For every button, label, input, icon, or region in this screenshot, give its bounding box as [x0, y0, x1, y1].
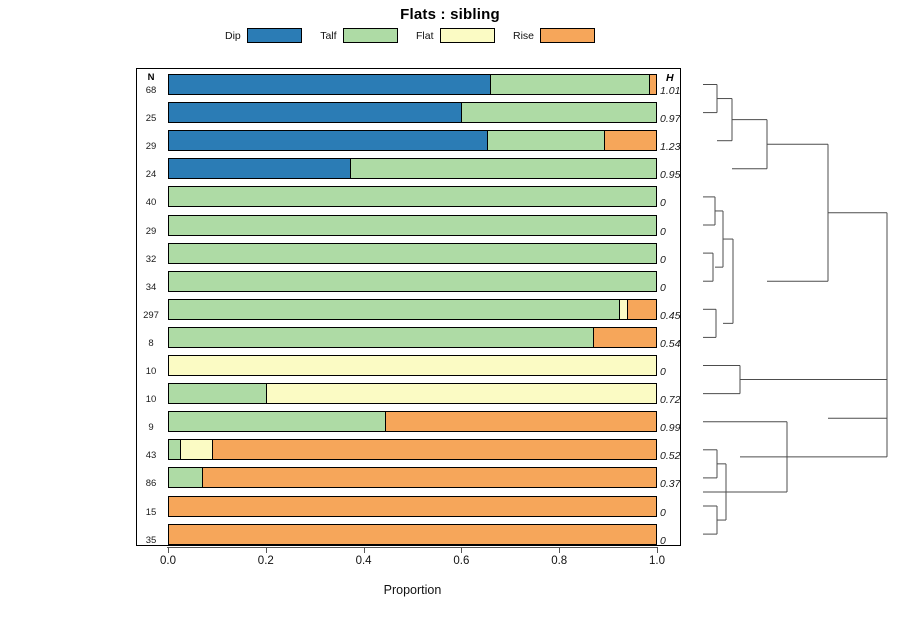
n-value: 86 — [137, 478, 165, 489]
bar-segment-rise — [649, 75, 656, 94]
legend-swatch-flat — [440, 28, 495, 43]
h-value: 0.52 — [660, 450, 690, 462]
stacked-bar — [168, 327, 657, 348]
bar-segment-talf — [169, 328, 593, 347]
h-value: 0 — [660, 254, 690, 266]
stacked-bar — [168, 74, 657, 95]
n-column-header: N — [137, 72, 165, 83]
h-value: 0.37 — [660, 478, 690, 490]
stacked-bar — [168, 467, 657, 488]
stacked-bar — [168, 215, 657, 236]
stacked-bar — [168, 411, 657, 432]
bar-segment-rise — [202, 468, 656, 487]
legend-label: Flat — [416, 30, 434, 42]
bar-segment-talf — [487, 131, 605, 150]
bar-segment-talf — [169, 244, 656, 263]
stacked-bar — [168, 439, 657, 460]
legend-item-rise: Rise — [513, 28, 595, 43]
h-value: 0 — [660, 226, 690, 238]
stacked-bar — [168, 158, 657, 179]
bar-segment-rise — [593, 328, 656, 347]
x-tick — [461, 547, 462, 553]
bar-segment-talf — [169, 272, 656, 291]
bar-segment-talf — [169, 468, 202, 487]
stacked-bar — [168, 243, 657, 264]
bar-segment-talf — [169, 187, 656, 206]
bar-segment-talf — [169, 216, 656, 235]
n-value: 43 — [137, 450, 165, 461]
h-value: 0 — [660, 535, 690, 547]
h-value: 0 — [660, 282, 690, 294]
h-value: 0 — [660, 507, 690, 519]
x-tick-label: 1.0 — [637, 555, 677, 567]
bar-segment-flat — [619, 300, 627, 319]
x-axis-line — [167, 547, 658, 548]
stacked-bar — [168, 355, 657, 376]
bar-segment-talf — [169, 384, 266, 403]
h-value: 0 — [660, 197, 690, 209]
n-value: 35 — [137, 535, 165, 546]
stacked-bar — [168, 524, 657, 545]
bar-segment-dip — [169, 103, 461, 122]
h-value: 1.23 — [660, 141, 690, 153]
n-value: 24 — [137, 169, 165, 180]
x-tick-label: 0.4 — [344, 555, 384, 567]
h-value: 1.01 — [660, 85, 690, 97]
bar-segment-flat — [180, 440, 212, 459]
n-value: 34 — [137, 282, 165, 293]
legend: DipTalfFlatRise — [225, 26, 595, 45]
stacked-bar — [168, 102, 657, 123]
bar-segment-dip — [169, 75, 490, 94]
h-value: 0.72 — [660, 394, 690, 406]
bar-segment-rise — [212, 440, 656, 459]
n-value: 40 — [137, 197, 165, 208]
legend-item-flat: Flat — [416, 28, 495, 43]
h-value: 0.97 — [660, 113, 690, 125]
h-value: 0 — [660, 366, 690, 378]
legend-label: Rise — [513, 30, 534, 42]
bar-segment-dip — [169, 159, 350, 178]
bar-segment-flat — [169, 356, 656, 375]
chart-title: Flats : sibling — [0, 6, 900, 23]
bar-segment-talf — [169, 440, 180, 459]
bar-segment-talf — [169, 412, 385, 431]
x-tick — [364, 547, 365, 553]
x-tick — [657, 547, 658, 553]
n-value: 10 — [137, 394, 165, 405]
n-value: 29 — [137, 141, 165, 152]
stacked-bar — [168, 186, 657, 207]
x-tick — [266, 547, 267, 553]
bar-segment-talf — [461, 103, 656, 122]
legend-swatch-rise — [540, 28, 595, 43]
legend-swatch-dip — [247, 28, 302, 43]
h-value: 0.95 — [660, 169, 690, 181]
x-tick-label: 0.0 — [148, 555, 188, 567]
x-tick-label: 0.8 — [539, 555, 579, 567]
bar-segment-rise — [169, 497, 656, 516]
bar-segment-rise — [604, 131, 656, 150]
x-tick-label: 0.2 — [246, 555, 286, 567]
x-tick-label: 0.6 — [441, 555, 481, 567]
x-tick — [168, 547, 169, 553]
n-value: 68 — [137, 85, 165, 96]
n-value: 297 — [137, 310, 165, 321]
n-value: 29 — [137, 226, 165, 237]
bar-segment-rise — [169, 525, 656, 544]
stacked-bar — [168, 383, 657, 404]
chart-canvas: Flats : sibling DipTalfFlatRise N H MEDO… — [0, 0, 900, 620]
legend-label: Dip — [225, 30, 241, 42]
bar-segment-flat — [266, 384, 656, 403]
bar-segment-talf — [169, 300, 619, 319]
h-value: 0.45 — [660, 310, 690, 322]
bar-segment-dip — [169, 131, 487, 150]
bar-segment-rise — [627, 300, 656, 319]
h-value: 0.54 — [660, 338, 690, 350]
dendrogram — [695, 60, 900, 550]
n-value: 15 — [137, 507, 165, 518]
legend-swatch-talf — [343, 28, 398, 43]
bar-segment-talf — [350, 159, 656, 178]
n-value: 10 — [137, 366, 165, 377]
bar-segment-rise — [385, 412, 656, 431]
x-axis-label: Proportion — [167, 583, 658, 597]
legend-label: Talf — [320, 30, 336, 42]
x-tick — [559, 547, 560, 553]
stacked-bar — [168, 299, 657, 320]
stacked-bar — [168, 130, 657, 151]
n-value: 25 — [137, 113, 165, 124]
legend-item-talf: Talf — [320, 28, 397, 43]
legend-item-dip: Dip — [225, 28, 302, 43]
bar-segment-talf — [490, 75, 648, 94]
stacked-bar — [168, 271, 657, 292]
h-value: 0.99 — [660, 422, 690, 434]
n-value: 32 — [137, 254, 165, 265]
stacked-bar — [168, 496, 657, 517]
n-value: 9 — [137, 422, 165, 433]
h-column-header: H — [666, 72, 692, 84]
n-value: 8 — [137, 338, 165, 349]
